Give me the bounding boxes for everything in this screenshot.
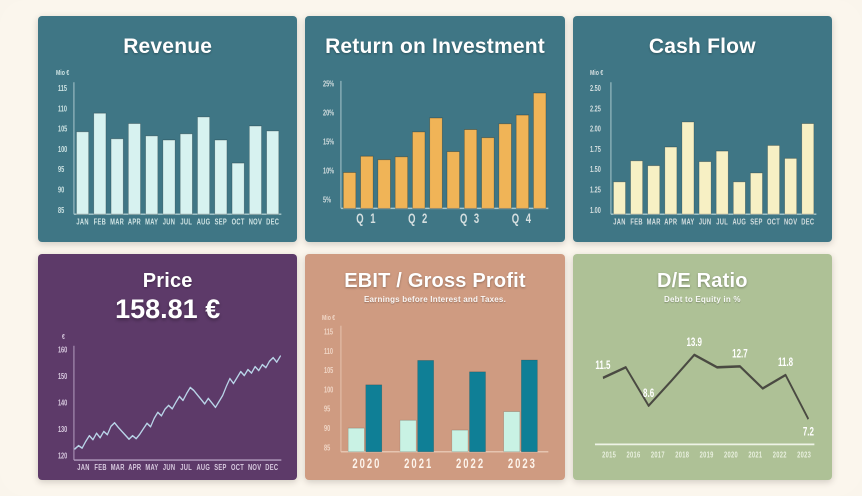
panel-ebit[interactable]: EBIT / Gross Profit Earnings before Inte… [305, 254, 564, 480]
panel-roi[interactable]: Return on Investment 25% 20% 15% 10% 5% … [305, 16, 564, 242]
svg-text:2020: 2020 [353, 455, 382, 471]
bar [198, 117, 210, 214]
bar [716, 151, 728, 214]
bar [517, 115, 529, 208]
svg-text:JUL: JUL [716, 216, 728, 226]
bar [733, 182, 745, 214]
chart-de: 11.58.613.912.711.87.2 20152016201720182… [583, 308, 822, 474]
svg-text:JAN: JAN [77, 464, 89, 472]
svg-text:OCT: OCT [231, 464, 244, 472]
svg-text:AUG: AUG [732, 216, 746, 226]
chart-roi: 25% 20% 15% 10% 5% Q 1Q 2Q 3Q 4 [315, 62, 554, 236]
bar [430, 118, 442, 208]
dashboard: Revenue Mio € 115 110 105 100 95 90 85 [0, 0, 862, 496]
bar [344, 173, 356, 209]
bar [378, 160, 390, 209]
x-axis-roi: Q 1Q 2Q 3Q 4 [357, 210, 534, 226]
x-axis-de: 201520162017201820192020202120222023 [602, 449, 811, 460]
svg-text:2018: 2018 [675, 449, 689, 460]
bars-ebit [349, 360, 538, 452]
data-label: 8.6 [643, 387, 654, 400]
svg-text:DEC: DEC [801, 216, 814, 226]
svg-text:5%: 5% [323, 197, 331, 205]
svg-text:MAY: MAY [145, 464, 158, 472]
panel-title-revenue: Revenue [48, 36, 287, 58]
chart-revenue: Mio € 115 110 105 100 95 90 85 JANFEBMAR… [48, 62, 287, 236]
x-axis-revenue: JANFEBMARAPRMAYJUNJULAUGSEPOCTNOVDEC [76, 216, 279, 226]
bar [146, 136, 158, 214]
bar [470, 372, 486, 452]
svg-text:85: 85 [58, 207, 64, 215]
bar [396, 157, 408, 209]
svg-text:15%: 15% [323, 139, 334, 147]
svg-text:130: 130 [58, 426, 67, 434]
bar [465, 130, 477, 209]
bar [366, 385, 382, 452]
svg-text:MAY: MAY [145, 216, 158, 226]
svg-text:MAR: MAR [111, 464, 125, 472]
bar [400, 420, 416, 451]
svg-text:DEC: DEC [266, 216, 279, 226]
svg-text:Q 4: Q 4 [512, 210, 533, 226]
chart-ebit: Mio € 115 110 105 100 95 90 85 202020212… [315, 308, 554, 474]
svg-text:MAR: MAR [646, 216, 660, 226]
bar [180, 134, 192, 214]
panel-subtitle-ebit: Earnings before Interest and Taxes. [315, 295, 554, 304]
bar [94, 113, 106, 214]
svg-text:95: 95 [58, 166, 64, 174]
chart-cashflow: Mio € 2.50 2.25 2.00 1.75 1.50 1.25 1.00… [583, 62, 822, 236]
y-axis-unit-revenue: Mio € [56, 69, 70, 77]
bar [665, 147, 677, 214]
svg-text:10%: 10% [323, 168, 334, 176]
panel-revenue[interactable]: Revenue Mio € 115 110 105 100 95 90 85 [38, 16, 297, 242]
price-value: 158.81 € [48, 294, 287, 325]
bar [163, 140, 175, 214]
y-axis-unit-price: € [62, 333, 65, 341]
data-label: 13.9 [686, 337, 702, 350]
bar [750, 173, 762, 214]
svg-text:2022: 2022 [772, 449, 786, 460]
bar [349, 428, 365, 452]
svg-text:JUN: JUN [699, 216, 711, 226]
svg-text:Q 3: Q 3 [460, 210, 481, 226]
bar [801, 124, 813, 215]
y-axis-unit-cashflow: Mio € [590, 69, 604, 77]
svg-text:AUG: AUG [196, 464, 210, 472]
svg-text:1.50: 1.50 [590, 166, 601, 174]
x-axis-price: JANFEBMARAPRMAYJUNJULAUGSEPOCTNOVDEC [77, 464, 278, 472]
svg-text:2023: 2023 [508, 455, 537, 471]
svg-text:APR: APR [128, 464, 141, 472]
x-axis-cashflow: JANFEBMARAPRMAYJUNJULAUGSEPOCTNOVDEC [613, 216, 814, 226]
svg-text:95: 95 [324, 406, 330, 414]
svg-text:1.75: 1.75 [590, 146, 601, 154]
bar [447, 152, 459, 209]
y-axis-roi: 25% 20% 15% 10% 5% [323, 81, 334, 205]
line-path [75, 356, 280, 449]
svg-text:150: 150 [58, 373, 67, 381]
svg-text:OCT: OCT [232, 216, 245, 226]
bar [232, 163, 244, 214]
panel-cashflow[interactable]: Cash Flow Mio € 2.50 2.25 2.00 1.75 1.50… [573, 16, 832, 242]
svg-text:115: 115 [324, 329, 333, 337]
svg-text:1.25: 1.25 [590, 187, 601, 195]
svg-text:100: 100 [58, 146, 67, 154]
panel-price[interactable]: Price 158.81 € € 160 150 140 130 120 JAN… [38, 254, 297, 480]
svg-text:2020: 2020 [724, 449, 738, 460]
bar [767, 145, 779, 214]
bar [699, 162, 711, 215]
svg-text:110: 110 [58, 106, 67, 114]
bar [267, 131, 279, 214]
svg-text:2015: 2015 [602, 449, 616, 460]
bar [418, 360, 434, 451]
svg-text:85: 85 [324, 444, 330, 452]
svg-text:90: 90 [58, 187, 64, 195]
svg-text:SEP: SEP [214, 464, 226, 472]
svg-text:2023: 2023 [797, 449, 811, 460]
svg-text:NOV: NOV [784, 216, 797, 226]
svg-text:2.00: 2.00 [590, 126, 601, 134]
panel-title-ebit: EBIT / Gross Profit [315, 271, 554, 292]
svg-text:Q 2: Q 2 [408, 210, 429, 226]
svg-text:OCT: OCT [767, 216, 780, 226]
svg-text:Q 1: Q 1 [357, 210, 378, 226]
svg-text:2021: 2021 [405, 455, 434, 471]
svg-text:JUN: JUN [163, 216, 175, 226]
bars-roi [344, 93, 547, 208]
svg-text:NOV: NOV [248, 464, 261, 472]
svg-text:2.50: 2.50 [590, 85, 601, 93]
svg-text:25%: 25% [323, 81, 334, 89]
svg-text:110: 110 [324, 348, 333, 356]
svg-text:NOV: NOV [249, 216, 262, 226]
svg-text:APR: APR [128, 216, 141, 226]
svg-text:JUL: JUL [180, 464, 192, 472]
y-axis-price: 160 150 140 130 120 [58, 347, 67, 461]
data-label: 7.2 [802, 426, 813, 439]
panel-title-price: Price [48, 271, 287, 292]
bar [522, 360, 538, 452]
svg-text:90: 90 [324, 425, 330, 433]
y-axis-cashflow: 2.50 2.25 2.00 1.75 1.50 1.25 1.00 [590, 85, 601, 215]
bar [647, 166, 659, 215]
bar [504, 412, 520, 452]
bar [111, 139, 123, 214]
svg-text:1.00: 1.00 [590, 207, 601, 215]
svg-text:160: 160 [58, 347, 67, 355]
svg-text:JAN: JAN [613, 216, 625, 226]
bar [784, 158, 796, 214]
svg-text:20%: 20% [323, 110, 334, 118]
panel-title-de: D/E Ratio [583, 271, 822, 292]
bar [249, 126, 261, 214]
svg-text:SEP: SEP [750, 216, 762, 226]
bars-revenue [77, 113, 279, 214]
svg-text:FEB: FEB [94, 216, 106, 226]
y-axis-unit-ebit: Mio € [322, 314, 335, 322]
svg-text:2017: 2017 [651, 449, 665, 460]
bar [534, 93, 546, 208]
y-axis-revenue: 115 110 105 100 95 90 85 [58, 85, 67, 215]
svg-text:JAN: JAN [76, 216, 88, 226]
svg-text:105: 105 [58, 126, 67, 134]
svg-text:140: 140 [58, 400, 67, 408]
svg-text:115: 115 [58, 85, 67, 93]
svg-text:MAR: MAR [110, 216, 124, 226]
panel-grid: Revenue Mio € 115 110 105 100 95 90 85 [38, 16, 832, 480]
panel-title-cashflow: Cash Flow [583, 36, 822, 58]
svg-text:DEC: DEC [265, 464, 278, 472]
x-axis-ebit: 2020202120222023 [353, 455, 538, 471]
bar [128, 124, 140, 215]
bar [499, 124, 511, 209]
svg-text:120: 120 [58, 453, 67, 461]
svg-text:2016: 2016 [626, 449, 640, 460]
svg-text:SEP: SEP [215, 216, 227, 226]
svg-text:FEB: FEB [630, 216, 642, 226]
svg-text:105: 105 [324, 367, 333, 375]
svg-text:AUG: AUG [197, 216, 211, 226]
line-price [75, 356, 280, 449]
svg-text:JUN: JUN [163, 464, 175, 472]
svg-text:2.25: 2.25 [590, 106, 601, 114]
panel-subtitle-de: Debt to Equity in % [583, 295, 822, 304]
panel-title-roi: Return on Investment [315, 36, 554, 58]
chart-price: € 160 150 140 130 120 JANFEBMARAPRMAYJUN… [48, 329, 287, 474]
bar [630, 161, 642, 214]
svg-text:FEB: FEB [94, 464, 106, 472]
data-label: 11.5 [595, 360, 610, 373]
svg-text:100: 100 [324, 387, 333, 395]
svg-text:MAY: MAY [681, 216, 694, 226]
bar [361, 156, 373, 208]
bar [77, 132, 89, 214]
panel-de[interactable]: D/E Ratio Debt to Equity in % 11.58.613.… [573, 254, 832, 480]
svg-text:2022: 2022 [456, 455, 485, 471]
data-label: 12.7 [732, 348, 748, 361]
svg-text:2021: 2021 [748, 449, 762, 460]
svg-text:2019: 2019 [699, 449, 713, 460]
bar [452, 430, 468, 452]
bars-cashflow [613, 122, 813, 214]
svg-text:APR: APR [664, 216, 677, 226]
bar [482, 138, 494, 209]
y-axis-ebit: 115 110 105 100 95 90 85 [324, 329, 333, 453]
bar [613, 182, 625, 214]
bar [215, 140, 227, 214]
datalabels-de: 11.58.613.912.711.87.2 [595, 337, 814, 439]
bar [413, 132, 425, 209]
svg-text:JUL: JUL [180, 216, 192, 226]
bar [682, 122, 694, 214]
data-label: 11.8 [778, 357, 793, 370]
